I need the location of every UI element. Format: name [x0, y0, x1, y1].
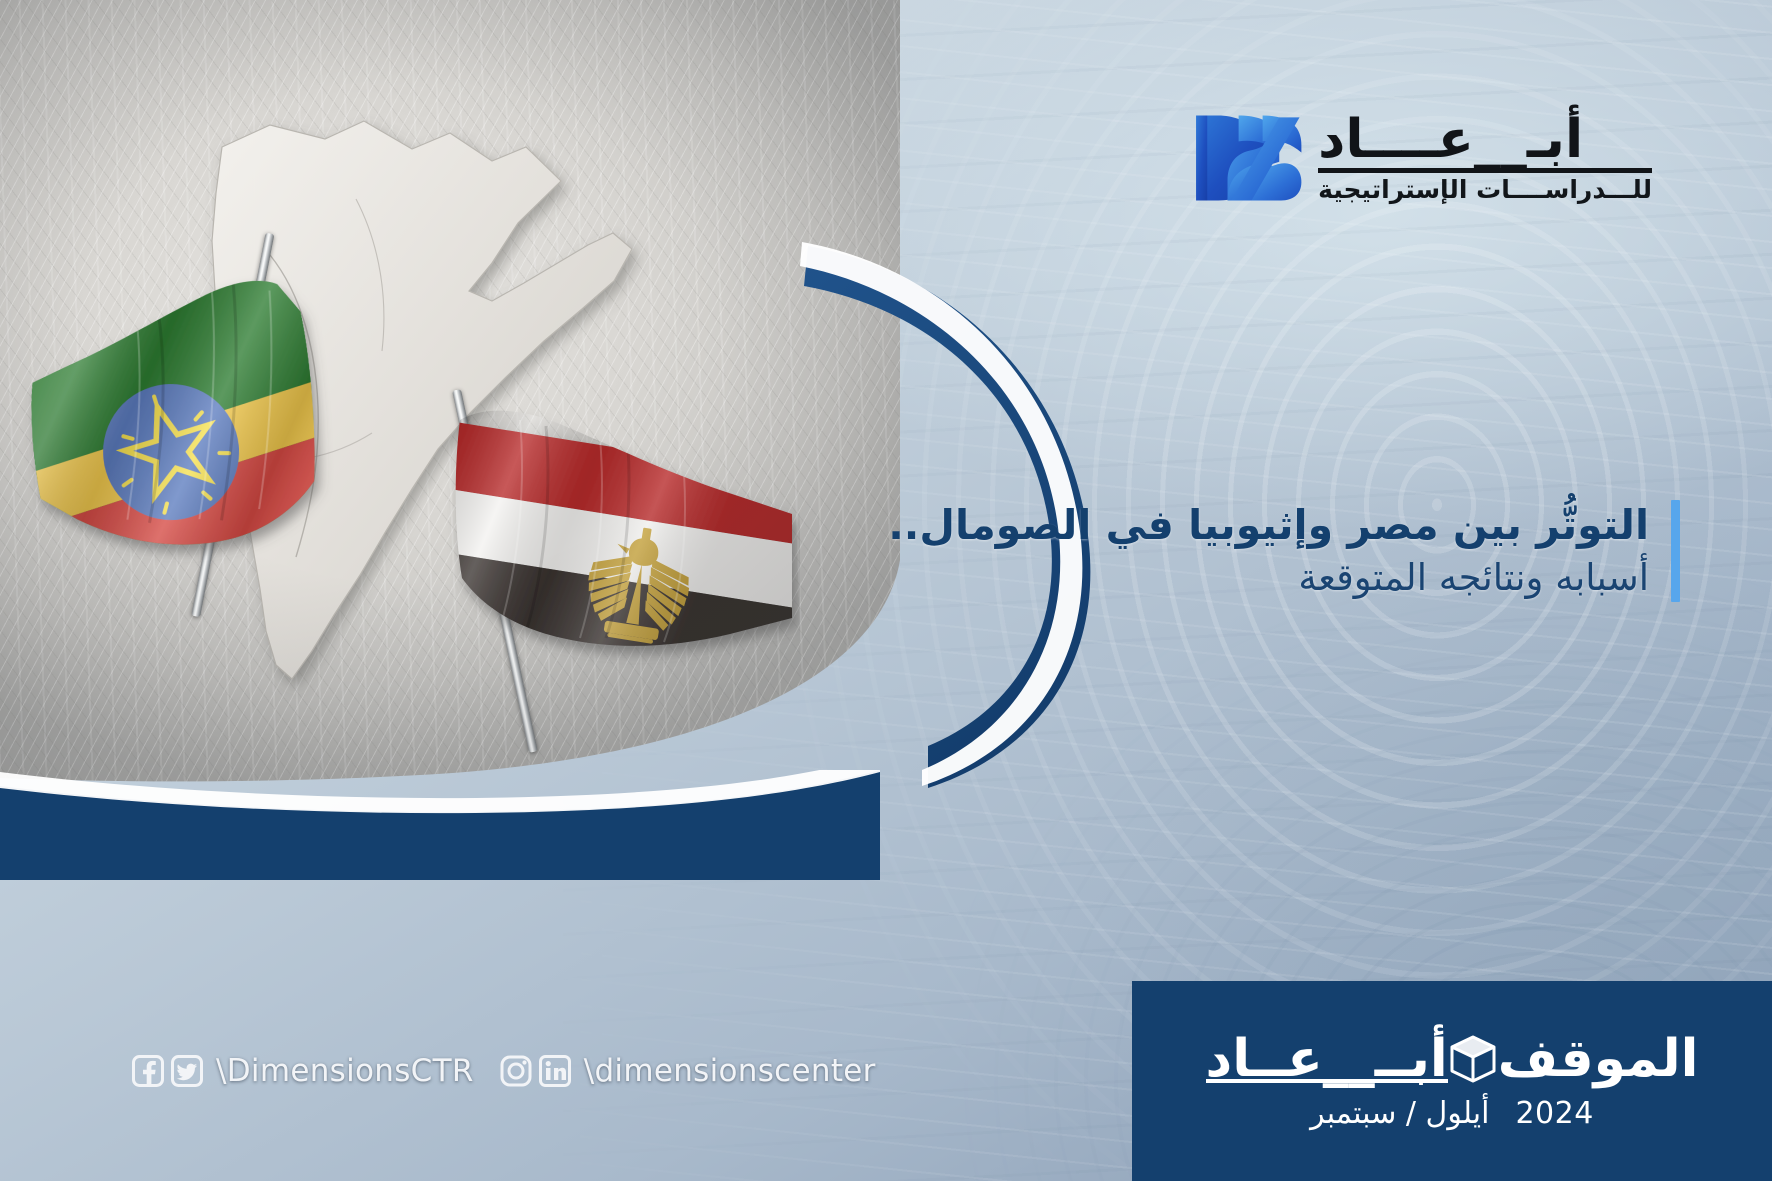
series-badge-year: 2024 [1515, 1096, 1593, 1131]
headline-text: التوتُّر بين مصر وإثيوبيا في الصومال.. أ… [888, 500, 1649, 602]
social-handle-dimensionsctr[interactable]: \DimensionsCTR [216, 1053, 474, 1089]
social-footer: \dimensionscenter \DimensionsCTR [132, 1053, 876, 1089]
series-badge-title: الموقف أبــ__عــاد [1206, 1032, 1699, 1086]
series-badge: الموقف أبــ__عــاد 2024 أيلول / سبتمبر [1132, 981, 1772, 1181]
linkedin-icon[interactable] [539, 1055, 571, 1087]
series-badge-date: 2024 أيلول / سبتمبر [1310, 1096, 1594, 1131]
headline-accent-bar [1671, 500, 1680, 602]
series-badge-word-right: أبــ__عــاد [1206, 1033, 1448, 1085]
brand-logo[interactable]: أبـ__عــــاد للـــدراســــات الإستراتيجي… [1190, 110, 1652, 206]
dss-monogram-icon [1190, 110, 1302, 206]
brand-tagline: للـــدراســــات الإستراتيجية [1318, 176, 1652, 204]
social-group-dimensionscenter: \dimensionscenter [500, 1053, 876, 1089]
brand-name: أبـ__عــــاد [1318, 113, 1652, 166]
headline-block: التوتُّر بين مصر وإثيوبيا في الصومال.. أ… [888, 500, 1680, 602]
series-badge-word-left: الموقف [1498, 1033, 1699, 1085]
instagram-icon[interactable] [500, 1055, 532, 1087]
page-title: التوتُّر بين مصر وإثيوبيا في الصومال.. [888, 500, 1649, 550]
cube-icon [1446, 1032, 1500, 1086]
facebook-icon[interactable] [132, 1055, 164, 1087]
brand-logo-wordmark: أبـ__عــــاد للـــدراســــات الإستراتيجي… [1318, 113, 1652, 204]
poster-canvas: أبـ__عــــاد للـــدراســــات الإستراتيجي… [0, 0, 1772, 1181]
social-handle-dimensionscenter[interactable]: \dimensionscenter [584, 1053, 876, 1089]
page-subtitle: أسبابه ونتائجه المتوقعة [888, 554, 1649, 602]
twitter-icon[interactable] [171, 1055, 203, 1087]
social-group-dimensionsctr: \DimensionsCTR [132, 1053, 474, 1089]
series-badge-month: أيلول / سبتمبر [1310, 1096, 1489, 1131]
